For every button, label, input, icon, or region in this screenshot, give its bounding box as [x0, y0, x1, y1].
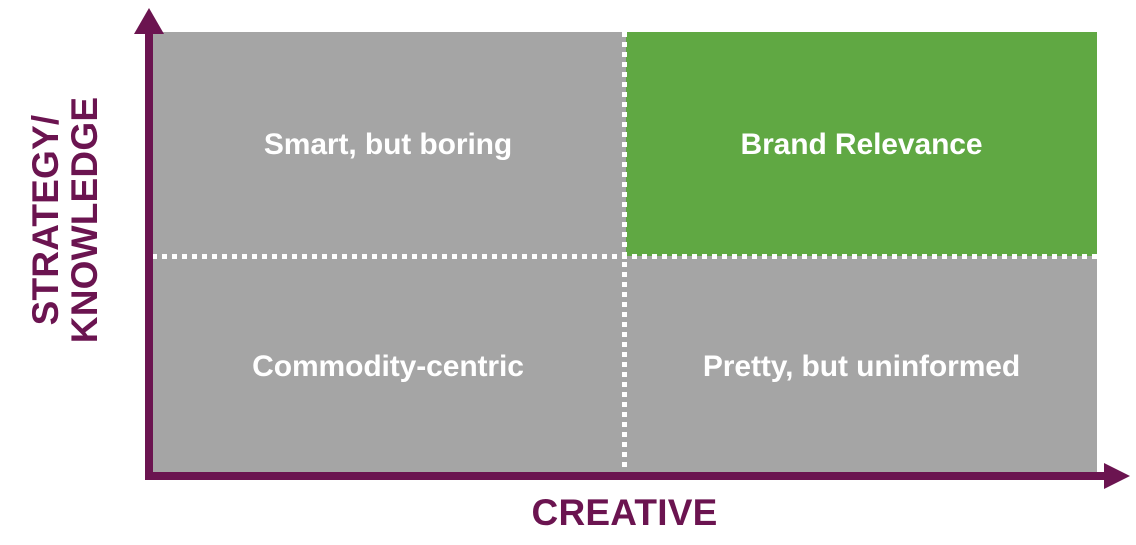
y-axis-arrowhead-up-icon: [134, 8, 164, 34]
vertical-dotted-divider: [622, 32, 627, 472]
x-axis-line: [145, 472, 1110, 480]
quadrant-bottom-right-label: Pretty, but uninformed: [703, 350, 1020, 383]
y-axis-title-line-2: KNOWLEDGE: [65, 97, 104, 343]
quadrant-bottom-right[interactable]: Pretty, but uninformed: [626, 260, 1097, 472]
two-by-two-matrix: Smart, but boring Brand Relevance Commod…: [152, 32, 1097, 472]
quadrant-bottom-left-label: Commodity-centric: [252, 350, 524, 383]
quadrant-top-left[interactable]: Smart, but boring: [152, 32, 624, 256]
quadrant-bottom-left[interactable]: Commodity-centric: [152, 260, 624, 472]
quadrant-top-right-brand-relevance[interactable]: Brand Relevance: [626, 32, 1097, 256]
y-axis-title: STRATEGY/ KNOWLEDGE: [17, 55, 113, 385]
quadrant-top-right-label: Brand Relevance: [741, 128, 983, 161]
y-axis-title-line-1: STRATEGY/: [26, 115, 65, 326]
quadrant-top-left-label: Smart, but boring: [264, 128, 512, 161]
x-axis-title: CREATIVE: [152, 492, 1097, 534]
y-axis-line: [145, 30, 153, 480]
x-axis-arrowhead-right-icon: [1104, 463, 1130, 489]
matrix-diagram-canvas: Smart, but boring Brand Relevance Commod…: [0, 0, 1136, 545]
